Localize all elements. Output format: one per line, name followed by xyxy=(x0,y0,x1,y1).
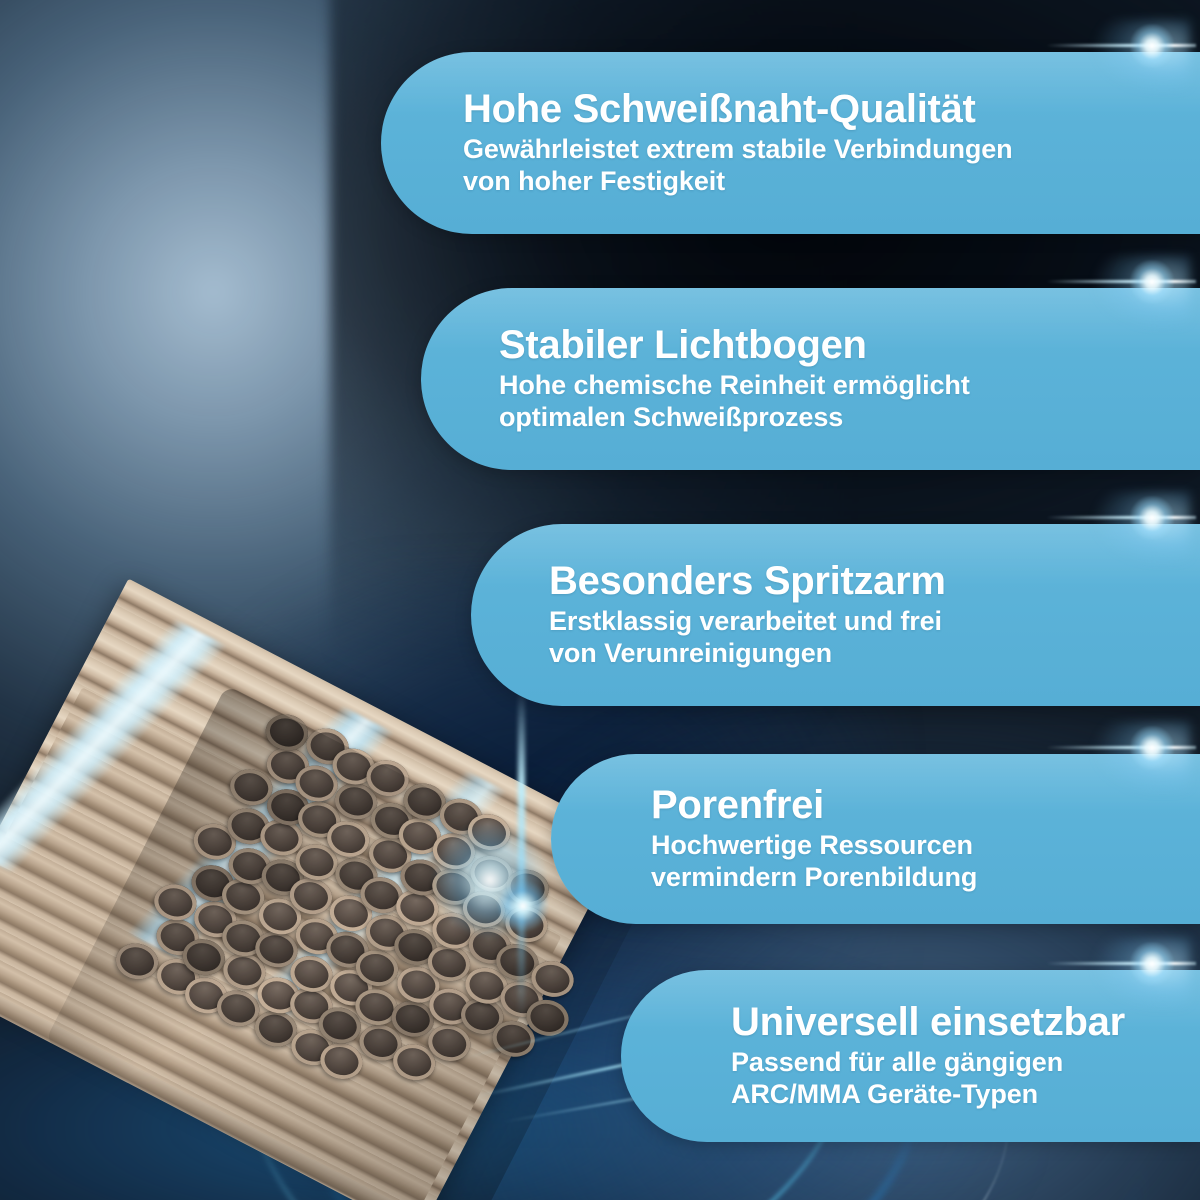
feature-pill-1-title: Hohe Schweißnaht-Qualität xyxy=(463,88,1200,130)
feature-pill-4-title: Porenfrei xyxy=(651,784,1200,826)
feature-pill-3-body: Besonders Spritzarm Erstklassig verarbei… xyxy=(471,524,1200,706)
feature-pill-4[interactable]: Porenfrei Hochwertige Ressourcen vermind… xyxy=(551,754,1200,924)
feature-pill-2-subtitle-line-2: optimalen Schweißprozess xyxy=(499,402,1200,434)
feature-pill-3-subtitle-line-2: von Verunreinigungen xyxy=(549,638,1200,670)
feature-pill-1[interactable]: Hohe Schweißnaht-Qualität Gewährleistet … xyxy=(381,52,1200,234)
feature-pill-2-title: Stabiler Lichtbogen xyxy=(499,324,1200,366)
feature-pill-4-subtitle-line-2: vermindern Porenbildung xyxy=(651,862,1200,894)
feature-pill-5-title: Universell einsetzbar xyxy=(731,1001,1200,1043)
vertical-light-beam-star xyxy=(497,880,549,932)
feature-pill-3[interactable]: Besonders Spritzarm Erstklassig verarbei… xyxy=(471,524,1200,706)
feature-pill-2-body: Stabiler Lichtbogen Hohe chemische Reinh… xyxy=(421,288,1200,470)
feature-pill-5-subtitle-line-1: Passend für alle gängigen xyxy=(731,1047,1200,1079)
infographic-canvas: Hohe Schweißnaht-Qualität Gewährleistet … xyxy=(0,0,1200,1200)
feature-pill-4-body: Porenfrei Hochwertige Ressourcen vermind… xyxy=(551,754,1200,924)
feature-pill-4-subtitle-line-1: Hochwertige Ressourcen xyxy=(651,830,1200,862)
feature-pill-5[interactable]: Universell einsetzbar Passend für alle g… xyxy=(621,970,1200,1142)
feature-pill-4-subtitle: Hochwertige Ressourcen vermindern Porenb… xyxy=(651,830,1200,894)
feature-pill-5-subtitle-line-2: ARC/MMA Geräte-Typen xyxy=(731,1079,1200,1111)
feature-pill-2-subtitle-line-1: Hohe chemische Reinheit ermöglicht xyxy=(499,370,1200,402)
feature-pill-1-subtitle-line-1: Gewährleistet extrem stabile Verbindunge… xyxy=(463,134,1200,166)
feature-pill-1-subtitle-line-2: von hoher Festigkeit xyxy=(463,166,1200,198)
feature-pill-5-body: Universell einsetzbar Passend für alle g… xyxy=(621,970,1200,1142)
feature-pill-5-subtitle: Passend für alle gängigen ARC/MMA Geräte… xyxy=(731,1047,1200,1111)
feature-pill-1-body: Hohe Schweißnaht-Qualität Gewährleistet … xyxy=(381,52,1200,234)
feature-pill-2-subtitle: Hohe chemische Reinheit ermöglicht optim… xyxy=(499,370,1200,434)
feature-pill-3-subtitle: Erstklassig verarbeitet und frei von Ver… xyxy=(549,606,1200,670)
feature-pill-3-title: Besonders Spritzarm xyxy=(549,560,1200,602)
feature-pill-1-subtitle: Gewährleistet extrem stabile Verbindunge… xyxy=(463,134,1200,198)
vertical-light-beam xyxy=(518,690,525,1020)
feature-pill-3-subtitle-line-1: Erstklassig verarbeitet und frei xyxy=(549,606,1200,638)
feature-pill-2[interactable]: Stabiler Lichtbogen Hohe chemische Reinh… xyxy=(421,288,1200,470)
